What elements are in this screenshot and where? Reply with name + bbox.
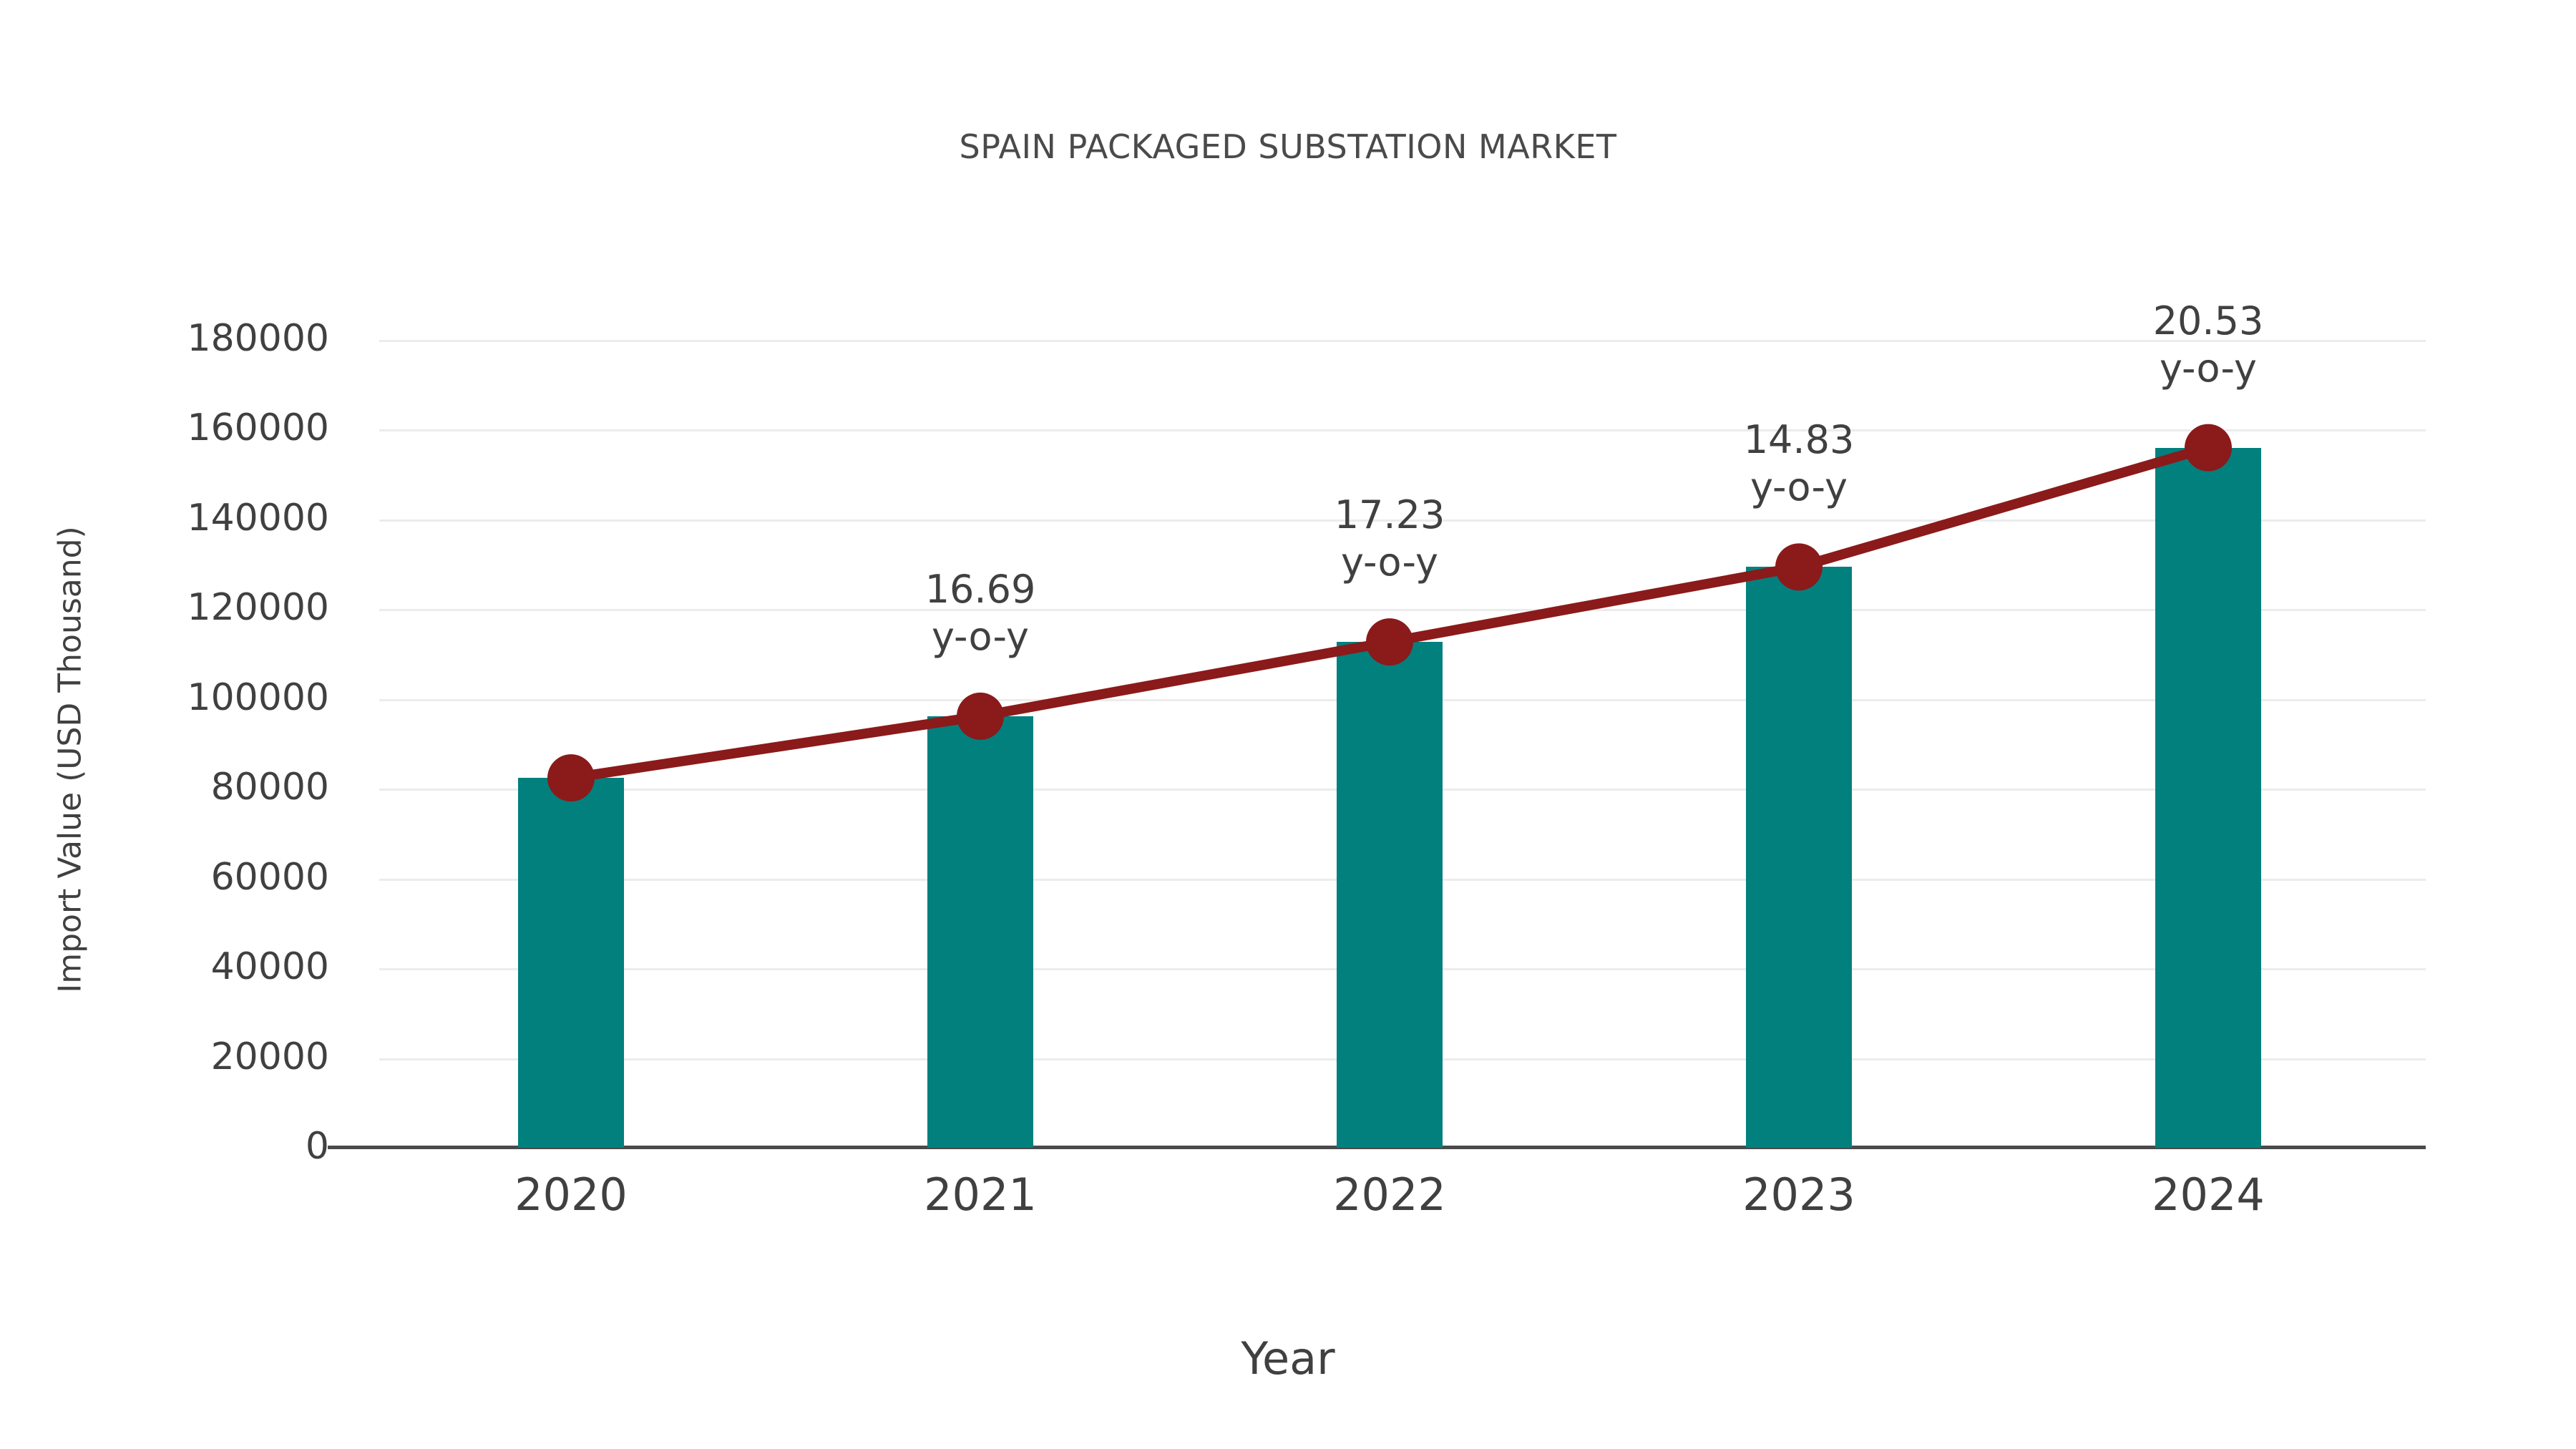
y-axis-tick-label: 60000 <box>14 856 329 899</box>
data-label-unit: y-o-y <box>2058 345 2358 392</box>
y-axis-tick-label: 0 <box>14 1125 329 1168</box>
data-point-marker[interactable] <box>1775 543 1823 590</box>
chart-container: SPAIN PACKAGED SUBSTATION MARKET Import … <box>0 0 2576 1449</box>
x-axis-tick-label: 2021 <box>837 1169 1123 1221</box>
data-label: 14.83y-o-y <box>1649 416 1949 511</box>
y-axis-tick-label: 180000 <box>14 317 329 360</box>
data-point-marker[interactable] <box>2185 424 2232 472</box>
data-label-value: 20.53 <box>2058 298 2358 345</box>
y-axis-tick-label: 100000 <box>14 676 329 719</box>
x-axis-tick-label: 2024 <box>2065 1169 2351 1221</box>
y-axis-tick-label: 80000 <box>14 766 329 809</box>
x-axis-tick-label: 2020 <box>428 1169 714 1221</box>
data-label-value: 16.69 <box>830 566 1131 613</box>
growth-line-series <box>379 326 2426 1148</box>
data-label: 17.23y-o-y <box>1239 492 1540 586</box>
data-label-unit: y-o-y <box>830 613 1131 660</box>
y-axis-tick-label: 40000 <box>14 945 329 988</box>
data-label-value: 17.23 <box>1239 492 1540 539</box>
chart-title: SPAIN PACKAGED SUBSTATION MARKET <box>0 127 2576 166</box>
x-axis-title: Year <box>0 1332 2576 1385</box>
data-point-marker[interactable] <box>957 693 1004 740</box>
y-axis-tick-label: 140000 <box>14 497 329 540</box>
data-point-marker[interactable] <box>1366 618 1413 665</box>
data-label: 20.53y-o-y <box>2058 298 2358 392</box>
data-label: 16.69y-o-y <box>830 566 1131 660</box>
y-axis-tick-label: 120000 <box>14 586 329 629</box>
data-point-marker[interactable] <box>547 754 595 801</box>
x-axis-tick-label: 2023 <box>1656 1169 1942 1221</box>
y-axis-tick-label: 160000 <box>14 406 329 449</box>
plot-area: 1800001600001400001200001000008000060000… <box>379 326 2426 1148</box>
data-label-unit: y-o-y <box>1239 539 1540 586</box>
data-label-unit: y-o-y <box>1649 464 1949 511</box>
y-axis-tick-label: 20000 <box>14 1035 329 1078</box>
data-label-value: 14.83 <box>1649 416 1949 464</box>
x-axis-tick-label: 2022 <box>1246 1169 1533 1221</box>
